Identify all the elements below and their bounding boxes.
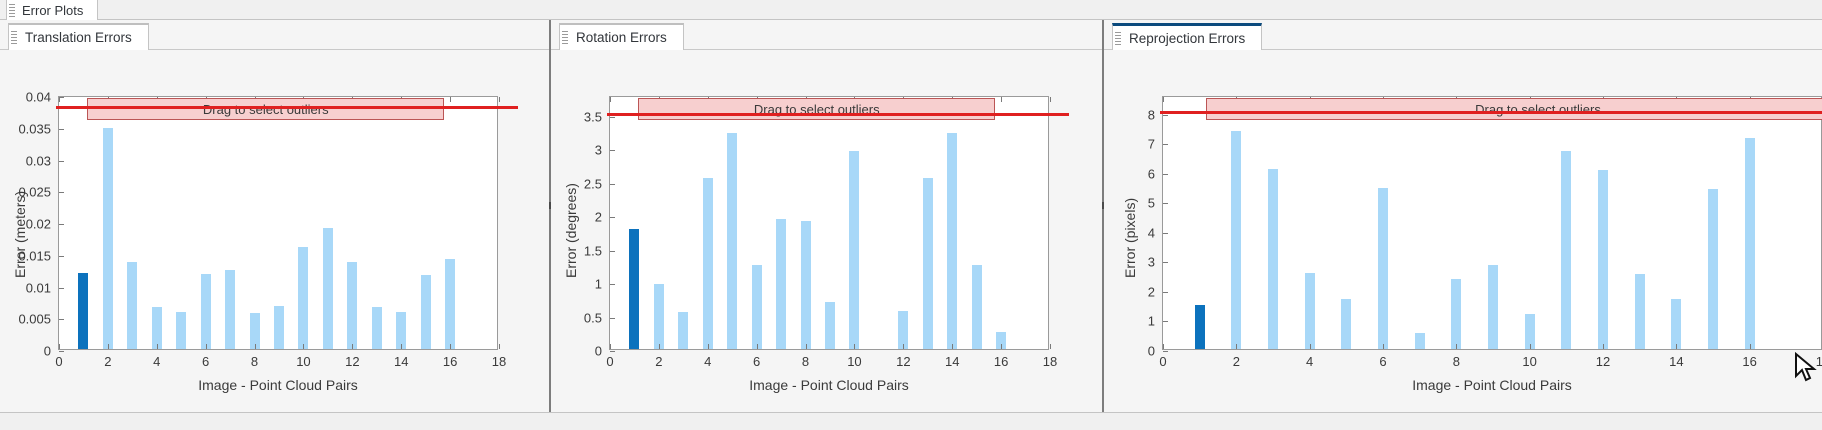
outlier-drag-band[interactable]: Drag to select outliers (638, 98, 995, 120)
y-axis-tick-mark (610, 284, 615, 285)
bar[interactable] (947, 133, 957, 349)
y-axis-tick-label: 0.025 (18, 185, 59, 200)
y-axis-tick-label: 1 (1148, 314, 1163, 329)
x-axis-tick-mark (1236, 344, 1237, 349)
y-axis-tick-mark (610, 150, 615, 151)
plot-clip (59, 97, 497, 349)
bar[interactable] (776, 219, 786, 349)
bar[interactable] (274, 306, 284, 349)
outlier-threshold-line[interactable] (607, 113, 1069, 116)
x-axis-label: Image - Point Cloud Pairs (58, 377, 498, 393)
y-axis-tick-label: 5 (1148, 196, 1163, 211)
outlier-drag-band[interactable]: Drag to select outliers (87, 98, 444, 120)
y-axis-tick-label: 3 (595, 143, 610, 158)
drag-grip-icon[interactable] (9, 4, 15, 17)
document-tab-label: Error Plots (18, 3, 83, 18)
bar[interactable] (176, 312, 186, 349)
bar[interactable] (972, 265, 982, 349)
x-axis-tick-mark (1603, 344, 1604, 349)
x-axis-tick-mark (610, 344, 611, 349)
bottom-statusbar (0, 412, 1822, 430)
bar[interactable] (1561, 151, 1571, 349)
x-axis-tick-mark (903, 344, 904, 349)
x-axis-tick-label: 16 (1742, 349, 1756, 369)
bar[interactable] (1231, 131, 1241, 349)
x-axis-tick-mark (1676, 344, 1677, 349)
y-axis-tick-label: 0.015 (18, 248, 59, 263)
panel-translation-errors: Translation Errors Error (meters)00.0050… (0, 20, 550, 412)
tab-label: Rotation Errors (571, 30, 667, 45)
x-axis-tick-mark-top (59, 97, 60, 102)
x-axis-tick-label: 8 (1453, 349, 1460, 369)
y-axis-tick-label: 0.005 (18, 312, 59, 327)
x-axis-tick-label: 14 (945, 349, 959, 369)
x-axis-tick-label: 8 (802, 349, 809, 369)
bar[interactable] (1598, 170, 1608, 349)
x-axis-tick-label: 8 (251, 349, 258, 369)
y-axis-tick-mark (610, 318, 615, 319)
bar[interactable] (127, 262, 137, 349)
document-tabstrip: Error Plots (0, 0, 1822, 20)
y-axis-tick-mark (610, 217, 615, 218)
y-axis-label: Error (pixels) (1122, 198, 1138, 278)
tab-label: Translation Errors (20, 30, 132, 45)
x-axis-tick-label: 6 (753, 349, 760, 369)
plot-axes[interactable]: 00.0050.010.0150.020.0250.030.0350.04024… (58, 96, 498, 350)
x-axis-tick-mark (206, 344, 207, 349)
panel-1-tabrow: Translation Errors (0, 20, 550, 50)
x-axis-tick-label: 10 (1522, 349, 1536, 369)
x-axis-tick-label: 2 (1233, 349, 1240, 369)
y-axis-tick-mark (59, 129, 64, 130)
y-axis-tick-mark (59, 288, 64, 289)
x-axis-tick-label: 14 (1669, 349, 1683, 369)
tab-rotation-errors[interactable]: Rotation Errors (559, 23, 684, 50)
bar[interactable] (298, 247, 308, 349)
x-axis-tick-mark-top (1163, 97, 1164, 102)
x-axis-tick-mark-top (450, 97, 451, 102)
x-axis-tick-label: 18 (492, 349, 506, 369)
x-axis-tick-mark-top (1050, 97, 1051, 102)
x-axis-tick-mark (1163, 344, 1164, 349)
x-axis-tick-mark (1050, 344, 1051, 349)
chart-rotation-errors[interactable]: Error (degrees)00.511.522.533.5024681012… (551, 51, 1103, 412)
tab-label: Reprojection Errors (1124, 31, 1245, 46)
y-axis-tick-label: 1 (595, 277, 610, 292)
y-axis-tick-mark (59, 192, 64, 193)
x-axis-tick-label: 4 (1306, 349, 1313, 369)
y-axis-tick-mark (1163, 203, 1168, 204)
x-axis-tick-mark (952, 344, 953, 349)
x-axis-tick-label: 10 (296, 349, 310, 369)
x-axis-tick-mark (59, 344, 60, 349)
x-axis-tick-label: 2 (655, 349, 662, 369)
plot-clip (610, 97, 1048, 349)
y-axis-tick-label: 2 (595, 210, 610, 225)
bar[interactable] (78, 273, 88, 349)
x-axis-tick-label: 10 (847, 349, 861, 369)
x-axis-tick-mark (1001, 344, 1002, 349)
x-axis-tick-label: 12 (345, 349, 359, 369)
drag-grip-icon[interactable] (11, 31, 17, 44)
bar[interactable] (1415, 333, 1425, 349)
bar[interactable] (1671, 299, 1681, 349)
x-axis-tick-mark (659, 344, 660, 349)
x-axis-tick-label: 4 (153, 349, 160, 369)
y-axis-tick-label: 0.01 (26, 280, 59, 295)
bar[interactable] (752, 265, 762, 349)
y-axis-tick-mark (610, 184, 615, 185)
bar[interactable] (1745, 138, 1755, 349)
bar[interactable] (678, 312, 688, 349)
bar[interactable] (347, 262, 357, 349)
bar[interactable] (1451, 279, 1461, 349)
plot-panels-container: Translation Errors Error (meters)00.0050… (0, 20, 1822, 412)
bar[interactable] (1195, 305, 1205, 349)
y-axis-tick-label: 0.04 (26, 90, 59, 105)
x-axis-tick-mark (401, 344, 402, 349)
bar[interactable] (727, 133, 737, 349)
x-axis-tick-mark (1530, 344, 1531, 349)
y-axis-tick-label: 0.5 (584, 310, 610, 325)
y-axis-tick-mark (1163, 115, 1168, 116)
panel-rotation-errors: Rotation Errors Error (degrees)00.511.52… (551, 20, 1103, 412)
x-axis-tick-mark (854, 344, 855, 349)
y-axis-tick-mark (59, 319, 64, 320)
bar[interactable] (1378, 188, 1388, 349)
bar[interactable] (1268, 169, 1278, 349)
x-axis-label: Image - Point Cloud Pairs (609, 377, 1049, 393)
y-axis-tick-label: 0.02 (26, 217, 59, 232)
y-axis-tick-label: 0.03 (26, 153, 59, 168)
bar[interactable] (421, 275, 431, 349)
x-axis-tick-label: 4 (704, 349, 711, 369)
bar[interactable] (703, 178, 713, 349)
x-axis-tick-mark (1383, 344, 1384, 349)
y-axis-tick-mark (610, 117, 615, 118)
x-axis-tick-mark (1310, 344, 1311, 349)
y-axis-label: Error (meters) (12, 191, 28, 278)
x-axis-tick-label: 6 (1379, 349, 1386, 369)
chart-translation-errors[interactable]: Error (meters)00.0050.010.0150.020.0250.… (0, 51, 550, 412)
x-axis-label: Image - Point Cloud Pairs (1162, 377, 1822, 393)
drag-grip-icon[interactable] (562, 31, 568, 44)
y-axis-tick-mark (1163, 144, 1168, 145)
y-axis-tick-label: 8 (1148, 107, 1163, 122)
x-axis-tick-mark-top (499, 97, 500, 102)
x-axis-tick-label: 18 (1043, 349, 1057, 369)
bar[interactable] (923, 178, 933, 349)
bar[interactable] (103, 128, 113, 349)
panel-3-tabrow: Reprojection Errors (1104, 20, 1822, 50)
x-axis-tick-mark (255, 344, 256, 349)
x-axis-tick-mark (352, 344, 353, 349)
bar[interactable] (201, 274, 211, 349)
chart-reprojection-errors[interactable]: Error (pixels)012345678024681012141618Dr… (1104, 51, 1822, 412)
document-tab-error-plots[interactable]: Error Plots (6, 0, 98, 20)
outlier-band-label: Drag to select outliers (203, 102, 329, 117)
y-axis-tick-mark (1163, 233, 1168, 234)
bar[interactable] (801, 221, 811, 349)
plot-clip (1163, 97, 1821, 349)
bar[interactable] (1488, 265, 1498, 349)
mouse-cursor-icon (1793, 352, 1819, 384)
bar[interactable] (323, 228, 333, 349)
y-axis-tick-label: 1.5 (584, 243, 610, 258)
y-axis-tick-mark (59, 161, 64, 162)
x-axis-tick-mark (1750, 344, 1751, 349)
x-axis-tick-mark (108, 344, 109, 349)
outlier-drag-band[interactable]: Drag to select outliers (1206, 98, 1822, 120)
tab-reprojection-errors[interactable]: Reprojection Errors (1112, 23, 1262, 50)
plot-axes[interactable]: 00.511.522.533.5024681012141618 (609, 96, 1049, 350)
y-axis-tick-label: 7 (1148, 137, 1163, 152)
x-axis-tick-label: 0 (1159, 349, 1166, 369)
bar[interactable] (825, 302, 835, 349)
x-axis-tick-label: 12 (1596, 349, 1610, 369)
x-axis-tick-mark (757, 344, 758, 349)
bar[interactable] (1305, 273, 1315, 349)
y-axis-tick-mark (1163, 292, 1168, 293)
outlier-band-label: Drag to select outliers (1475, 102, 1601, 117)
x-axis-tick-label: 14 (394, 349, 408, 369)
y-axis-tick-label: 2 (1148, 284, 1163, 299)
x-axis-tick-mark (708, 344, 709, 349)
x-axis-tick-label: 0 (606, 349, 613, 369)
bar[interactable] (372, 307, 382, 349)
y-axis-tick-mark (610, 251, 615, 252)
bar[interactable] (152, 307, 162, 349)
x-axis-tick-mark-top (610, 97, 611, 102)
y-axis-tick-mark (1163, 321, 1168, 322)
x-axis-tick-mark (806, 344, 807, 349)
y-axis-tick-mark (1163, 174, 1168, 175)
y-axis-tick-mark (59, 256, 64, 257)
y-axis-label: Error (degrees) (563, 183, 579, 278)
x-axis-tick-label: 16 (443, 349, 457, 369)
plot-axes[interactable]: 012345678024681012141618 (1162, 96, 1822, 350)
panel-reprojection-errors: Reprojection Errors Error (pixels)012345… (1104, 20, 1822, 412)
x-axis-tick-mark (1456, 344, 1457, 349)
x-axis-tick-mark (157, 344, 158, 349)
x-axis-tick-label: 12 (896, 349, 910, 369)
x-axis-tick-label: 0 (55, 349, 62, 369)
bar[interactable] (1708, 189, 1718, 349)
y-axis-tick-mark (59, 224, 64, 225)
bar[interactable] (629, 229, 639, 349)
tab-translation-errors[interactable]: Translation Errors (8, 23, 149, 50)
y-axis-tick-label: 2.5 (584, 176, 610, 191)
error-plots-window: Error Plots Translation Errors Error (me… (0, 0, 1822, 430)
y-axis-tick-label: 4 (1148, 225, 1163, 240)
x-axis-tick-mark (303, 344, 304, 349)
bar[interactable] (654, 284, 664, 350)
bar[interactable] (849, 151, 859, 349)
x-axis-tick-label: 16 (994, 349, 1008, 369)
bar[interactable] (445, 259, 455, 349)
bar[interactable] (1341, 299, 1351, 349)
drag-grip-icon[interactable] (1115, 32, 1121, 45)
outlier-threshold-line[interactable] (1160, 111, 1822, 114)
y-axis-tick-label: 0.035 (18, 121, 59, 136)
x-axis-tick-mark-top (1001, 97, 1002, 102)
y-axis-tick-mark (1163, 262, 1168, 263)
panel-2-tabrow: Rotation Errors (551, 20, 1103, 50)
x-axis-tick-label: 6 (202, 349, 209, 369)
outlier-threshold-line[interactable] (56, 106, 518, 109)
y-axis-tick-label: 3 (1148, 255, 1163, 270)
y-axis-tick-label: 6 (1148, 166, 1163, 181)
x-axis-tick-mark (450, 344, 451, 349)
bar[interactable] (225, 270, 235, 349)
bar[interactable] (1635, 274, 1645, 349)
x-axis-tick-label: 2 (104, 349, 111, 369)
x-axis-tick-mark (499, 344, 500, 349)
